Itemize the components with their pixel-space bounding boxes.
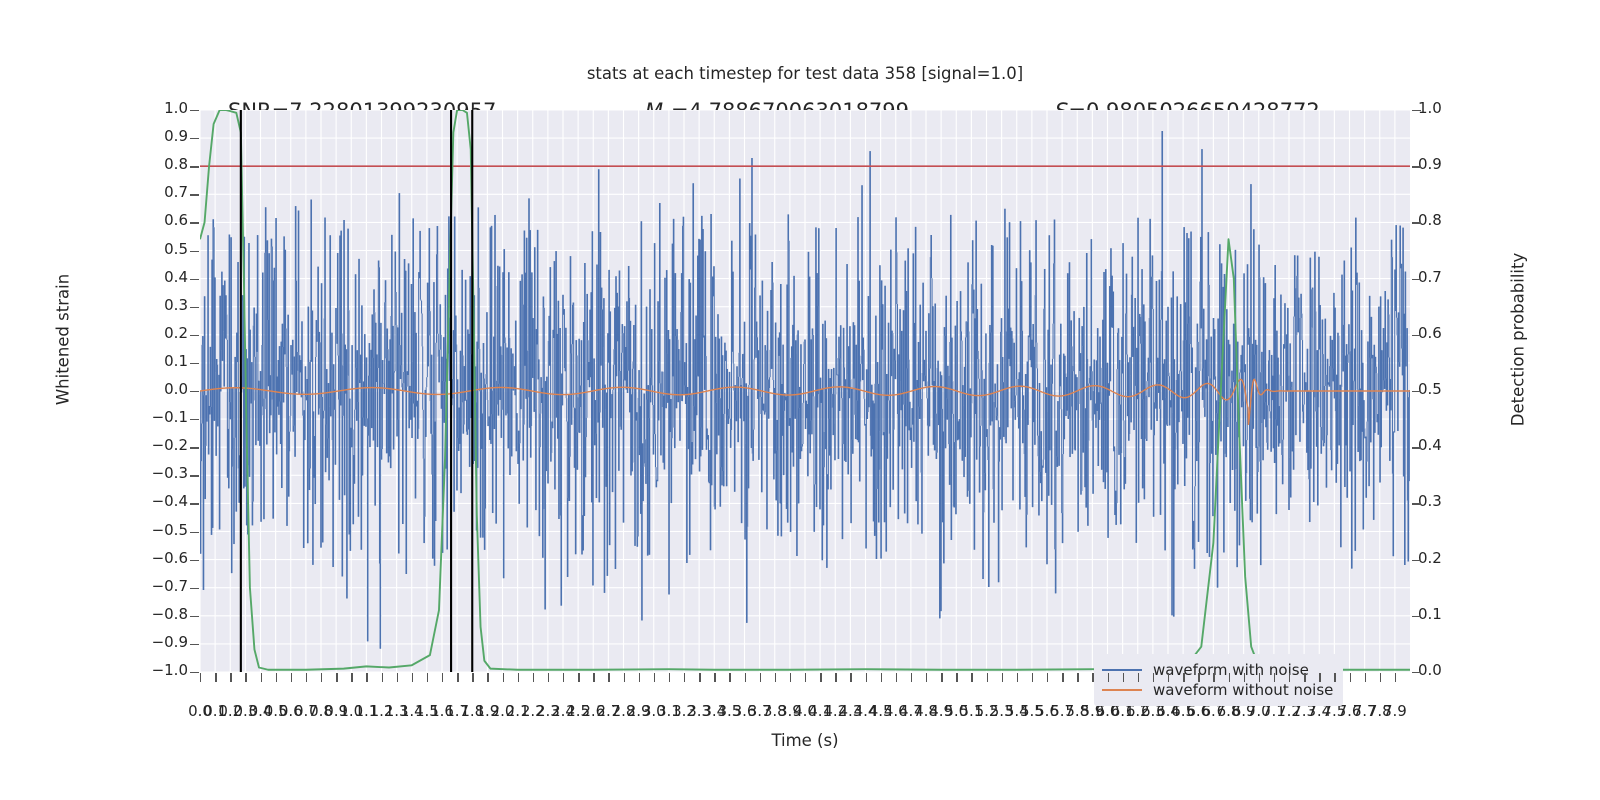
y-axis-right-label: Detection probability [1509, 210, 1528, 470]
y-axis-left-tick-label: −0.3 [128, 466, 188, 481]
x-axis-tick-mark [427, 673, 428, 682]
y-axis-right-tick-label: 0.5 [1418, 382, 1482, 397]
y-axis-right-tick-mark [1412, 222, 1421, 223]
x-axis-tick-mark [1183, 673, 1184, 682]
y-axis-left-tick-label: 1.0 [128, 101, 188, 116]
y-axis-left-tick-label: 0.4 [128, 270, 188, 285]
y-axis-right-tick-label: 0.6 [1418, 326, 1482, 341]
figure-canvas: stats at each timestep for test data 358… [0, 0, 1600, 800]
y-axis-right-tick-label: 0.8 [1418, 213, 1482, 228]
y-axis-left-tick-label: −0.2 [128, 438, 188, 453]
x-axis-tick-mark [1108, 673, 1109, 682]
y-axis-left-tick-mark [190, 251, 199, 252]
legend-item-label: waveform without noise [1153, 681, 1333, 699]
x-axis-tick-mark [321, 673, 322, 682]
x-axis-tick-mark [714, 673, 715, 682]
x-axis-tick-mark [1244, 673, 1245, 682]
legend-item-label: waveform with noise [1153, 661, 1309, 679]
y-axis-right-tick-mark [1412, 616, 1421, 617]
y-axis-right-tick-mark [1412, 166, 1421, 167]
y-axis-left-tick-label: 0.1 [128, 354, 188, 369]
y-axis-left-tick-label: 0.9 [128, 129, 188, 144]
chart-legend[interactable]: waveform with noisewaveform without nois… [1094, 654, 1343, 706]
x-axis-tick-mark [412, 673, 413, 682]
y-axis-left-tick-mark [190, 194, 199, 195]
x-axis-tick-mark [306, 673, 307, 682]
x-axis-tick-mark [1229, 673, 1230, 682]
y-axis-left-tick-mark [190, 391, 199, 392]
y-axis-left-tick-label: −0.9 [128, 635, 188, 650]
x-axis-tick-mark [1123, 673, 1124, 682]
y-axis-left-tick-label: 0.0 [128, 382, 188, 397]
x-axis-tick-mark [397, 673, 398, 682]
x-axis-tick-mark [608, 673, 609, 682]
x-axis-tick-mark [1213, 673, 1214, 682]
y-axis-left-tick-mark [190, 279, 199, 280]
y-axis-left-tick-mark [190, 138, 199, 139]
x-axis-tick-mark [487, 673, 488, 682]
y-axis-left-tick-label: 0.2 [128, 326, 188, 341]
y-axis-left-tick-mark [190, 166, 199, 167]
plot-axes-area [200, 110, 1410, 672]
y-axis-left-tick-mark [190, 475, 199, 476]
x-axis-tick-mark [382, 673, 383, 682]
x-axis-tick-mark [578, 673, 579, 682]
x-axis-tick-label: 7.9 [1383, 704, 1407, 719]
x-axis-tick-mark [1259, 673, 1260, 682]
x-axis-tick-mark [911, 673, 912, 682]
x-axis-tick-mark [1047, 673, 1048, 682]
y-axis-left-tick-mark [190, 588, 199, 589]
x-axis-tick-mark [276, 673, 277, 682]
y-axis-left-tick-label: −0.1 [128, 410, 188, 425]
x-axis-tick-mark [1092, 673, 1093, 682]
x-axis-tick-mark [654, 673, 655, 682]
x-axis-tick-mark [775, 673, 776, 682]
x-axis-tick-mark [533, 673, 534, 682]
y-axis-right-tick-mark [1412, 503, 1421, 504]
y-axis-left-tick-label: −0.5 [128, 523, 188, 538]
x-axis-tick-mark [366, 673, 367, 682]
y-axis-right-tick-mark [1412, 335, 1421, 336]
y-axis-left-tick-mark [190, 335, 199, 336]
x-axis-tick-mark [684, 673, 685, 682]
y-axis-right-tick-label: 0.0 [1418, 663, 1482, 678]
legend-item[interactable]: waveform without noise [1102, 680, 1333, 700]
x-axis-tick-mark [245, 673, 246, 682]
x-axis-tick-mark [200, 673, 201, 682]
x-axis-tick-mark [336, 673, 337, 682]
y-axis-left-tick-label: 0.8 [128, 157, 188, 172]
x-axis-tick-mark [503, 673, 504, 682]
x-axis-tick-mark [1017, 673, 1018, 682]
y-axis-left-tick-label: 0.5 [128, 242, 188, 257]
x-axis-tick-mark [1168, 673, 1169, 682]
y-axis-left-tick-label: 0.7 [128, 185, 188, 200]
y-axis-right-tick-mark [1412, 110, 1421, 111]
x-axis-tick-mark [593, 673, 594, 682]
y-axis-right-tick-label: 1.0 [1418, 101, 1482, 116]
y-axis-right-tick-label: 0.2 [1418, 551, 1482, 566]
x-axis-tick-mark [215, 673, 216, 682]
legend-item[interactable]: waveform with noise [1102, 660, 1333, 680]
legend-color-swatch [1102, 669, 1142, 672]
x-axis-tick-mark [1304, 673, 1305, 682]
y-axis-right-tick-label: 0.1 [1418, 607, 1482, 622]
y-axis-left-tick-label: 0.6 [128, 213, 188, 228]
chart-title: stats at each timestep for test data 358… [200, 64, 1410, 83]
x-axis-tick-mark [729, 673, 730, 682]
x-axis-tick-mark [941, 673, 942, 682]
x-axis-tick-mark [1289, 673, 1290, 682]
x-axis-tick-mark [1062, 673, 1063, 682]
y-axis-left-tick-label: 0.3 [128, 298, 188, 313]
x-axis-tick-mark [1002, 673, 1003, 682]
x-axis-tick-mark [291, 673, 292, 682]
x-axis-tick-mark [351, 673, 352, 682]
y-axis-left-tick-mark [190, 363, 199, 364]
y-axis-left-tick-mark [190, 222, 199, 223]
y-axis-right-tick-label: 0.3 [1418, 494, 1482, 509]
x-axis-tick-mark [699, 673, 700, 682]
y-axis-left-tick-mark [190, 616, 199, 617]
x-axis-tick-mark [1380, 673, 1381, 682]
y-axis-left-tick-mark [190, 307, 199, 308]
y-axis-right-tick-mark [1412, 279, 1421, 280]
x-axis-tick-mark [669, 673, 670, 682]
y-axis-left-tick-label: −0.7 [128, 579, 188, 594]
x-axis-tick-mark [835, 673, 836, 682]
x-axis-tick-mark [987, 673, 988, 682]
x-axis-tick-mark [261, 673, 262, 682]
x-axis-tick-mark [1350, 673, 1351, 682]
x-axis-tick-mark [1334, 673, 1335, 682]
x-axis-tick-mark [472, 673, 473, 682]
x-axis-tick-mark [518, 673, 519, 682]
x-axis-tick-mark [1198, 673, 1199, 682]
x-axis-tick-mark [563, 673, 564, 682]
x-axis-label: Time (s) [200, 731, 1410, 750]
x-axis-tick-mark [745, 673, 746, 682]
y-axis-left-tick-label: −1.0 [128, 663, 188, 678]
y-axis-right-tick-label: 0.7 [1418, 270, 1482, 285]
x-axis-tick-mark [1395, 673, 1396, 682]
x-axis-tick-mark [442, 673, 443, 682]
x-axis-tick-mark [548, 673, 549, 682]
y-axis-left-tick-label: −0.4 [128, 494, 188, 509]
x-axis-tick-mark [1153, 673, 1154, 682]
x-axis-tick-mark [926, 673, 927, 682]
x-axis-tick-mark [624, 673, 625, 682]
y-axis-left-tick-mark [190, 560, 199, 561]
x-axis-tick-mark [639, 673, 640, 682]
y-axis-left-tick-mark [190, 503, 199, 504]
x-axis-tick-mark [1365, 673, 1366, 682]
x-axis-tick-mark [896, 673, 897, 682]
plot-svg [200, 110, 1410, 672]
x-axis-tick-mark [956, 673, 957, 682]
x-axis-tick-mark [820, 673, 821, 682]
y-axis-right-tick-label: 0.9 [1418, 157, 1482, 172]
x-axis-tick-mark [1077, 673, 1078, 682]
x-axis-tick-mark [1319, 673, 1320, 682]
y-axis-left-tick-label: −0.6 [128, 551, 188, 566]
x-axis-tick-mark [1138, 673, 1139, 682]
x-axis-tick-mark [230, 673, 231, 682]
y-axis-left-tick-mark [190, 532, 199, 533]
legend-color-swatch [1102, 689, 1142, 692]
x-axis-tick-mark [866, 673, 867, 682]
y-axis-left-tick-mark [190, 447, 199, 448]
y-axis-left-tick-mark [190, 672, 199, 673]
y-axis-left-label: Whitened strain [54, 230, 73, 450]
x-axis-tick-mark [881, 673, 882, 682]
x-axis-tick-mark [850, 673, 851, 682]
x-axis-tick-mark [805, 673, 806, 682]
x-axis-tick-mark [760, 673, 761, 682]
y-axis-left-tick-mark [190, 419, 199, 420]
x-axis-tick-mark [790, 673, 791, 682]
y-axis-right-tick-mark [1412, 672, 1421, 673]
y-axis-right-tick-mark [1412, 391, 1421, 392]
y-axis-right-tick-mark [1412, 447, 1421, 448]
y-axis-left-tick-mark [190, 110, 199, 111]
x-axis-tick-mark [457, 673, 458, 682]
y-axis-right-tick-label: 0.4 [1418, 438, 1482, 453]
y-axis-right-tick-mark [1412, 560, 1421, 561]
y-axis-left-tick-mark [190, 644, 199, 645]
x-axis-tick-mark [1032, 673, 1033, 682]
x-axis-tick-mark [1274, 673, 1275, 682]
x-axis-tick-mark [971, 673, 972, 682]
y-axis-left-tick-label: −0.8 [128, 607, 188, 622]
